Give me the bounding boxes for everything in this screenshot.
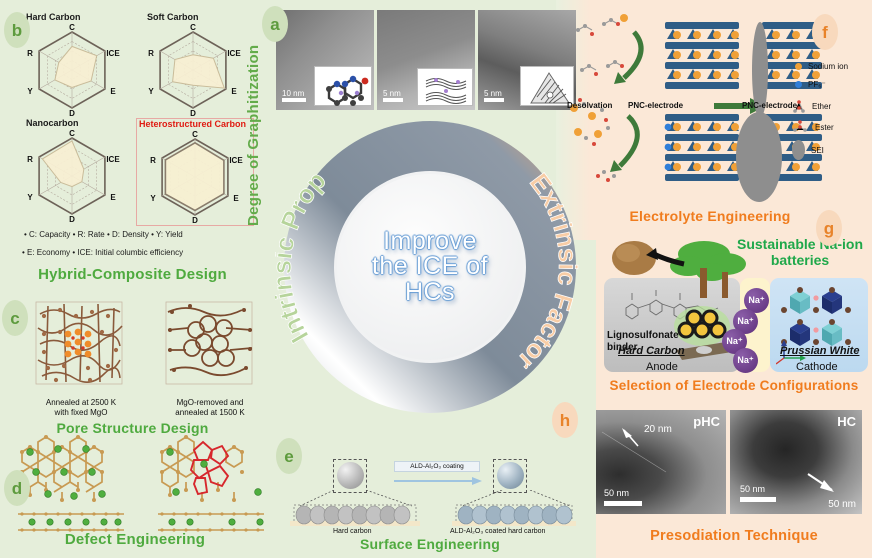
pore-model-mgo-removed xyxy=(160,294,260,394)
pore-left-caption-line2: with fixed MgO xyxy=(28,408,134,418)
caption-electrode-configurations: Selection of Electrode Configurations xyxy=(596,378,872,393)
svg-text:R: R xyxy=(150,156,156,165)
svg-text:D: D xyxy=(190,109,196,118)
label-degree-of-graphitization: Degree of Graphitization xyxy=(245,14,262,226)
svg-text:E: E xyxy=(231,87,237,96)
panel-badge-b: b xyxy=(4,12,30,48)
panel-badge-f-letter: f xyxy=(822,24,828,41)
svg-text:C: C xyxy=(190,23,196,32)
svg-text:R: R xyxy=(27,49,33,58)
electrolyte-legend-label-pf6: PF₆⁻ xyxy=(808,80,826,89)
caption-hybrid-composite-design: Hybrid-Composite Design xyxy=(0,266,265,283)
tem-phc-scale-label: 50 nm xyxy=(604,488,629,498)
surface-particle-coated xyxy=(497,462,524,489)
pnc-electrode-left xyxy=(663,14,745,186)
defect-lattice-defective xyxy=(148,432,268,542)
svg-text:ICE: ICE xyxy=(229,156,243,165)
radar-title-hard-carbon: Hard Carbon xyxy=(26,12,132,22)
radar-hard-carbon: Hard Carbon C ICE E D xyxy=(12,12,132,120)
cathode-material-label: Prussian White xyxy=(780,345,859,357)
hrtem-tile-2-scalebar xyxy=(383,98,403,102)
panel-badge-h-letter: h xyxy=(560,412,570,429)
electrolyte-legend-pf6: PF₆⁻ xyxy=(795,80,826,89)
electrolyte-legend-ester: Ester xyxy=(793,120,834,134)
pore-right-caption-line1: MgO-removed and xyxy=(155,398,265,408)
hrtem-tile-1-inset xyxy=(314,66,372,106)
pore-right-caption-line2: annealed at 1500 K xyxy=(155,408,265,418)
caption-pore-structure-design: Pore Structure Design xyxy=(0,420,265,436)
electrolyte-legend-label-sodium-ion: Sodium ion xyxy=(808,62,848,71)
center-title-line-3: HCs xyxy=(405,280,455,306)
panel-badge-h: h xyxy=(552,402,578,438)
svg-text:Y: Y xyxy=(27,193,33,202)
central-ring-diagram: Intrinsic Property Extrinsic Factor Impr… xyxy=(275,112,585,422)
hrtem-tile-3: 5 nm xyxy=(478,10,576,110)
svg-text:E: E xyxy=(233,194,239,203)
radar-svg-nanocarbon: C ICE E D Y R xyxy=(12,128,132,224)
hrtem-tile-2-inset xyxy=(417,68,473,106)
na-ion-2-label: Na⁺ xyxy=(737,316,753,327)
svg-text:D: D xyxy=(192,216,198,225)
electrolyte-legend-label-ether: Ether xyxy=(812,102,831,111)
hrtem-tile-3-scale-label: 5 nm xyxy=(484,89,502,98)
caption-surface-engineering: Surface Engineering xyxy=(300,536,560,552)
radar-nanocarbon: Nanocarbon C ICE E D xyxy=(12,118,132,226)
pore-transform-arrow-icon xyxy=(133,298,153,316)
surface-process-arrow-icon xyxy=(394,476,482,486)
tem-hc-scale-label: 50 nm xyxy=(740,484,765,494)
pf6-anion-icon xyxy=(795,81,802,88)
tem-phc: pHC 20 nm 50 nm xyxy=(596,410,726,514)
svg-text:Y: Y xyxy=(148,87,154,96)
svg-text:Y: Y xyxy=(150,194,156,203)
radar-title-nanocarbon: Nanocarbon xyxy=(26,118,132,128)
radar-svg-soft-carbon: C ICE E D Y R xyxy=(133,22,253,118)
ester-molecule-icon xyxy=(793,120,809,134)
svg-text:D: D xyxy=(69,109,75,118)
electrolyte-legend-sei: SEI xyxy=(792,140,824,160)
svg-text:R: R xyxy=(148,49,154,58)
hrtem-tile-3-scalebar xyxy=(484,98,504,102)
electrolyte-label-pnc-electrode-left: PNC-electrode xyxy=(628,101,683,110)
caption-defect-engineering: Defect Engineering xyxy=(0,531,270,548)
svg-text:E: E xyxy=(110,193,116,202)
pore-left-caption-line1: Annealed at 2500 K xyxy=(28,398,134,408)
svg-text:ICE: ICE xyxy=(106,49,120,58)
pore-right-caption: MgO-removed and annealed at 1500 K xyxy=(155,398,265,418)
svg-text:R: R xyxy=(27,155,33,164)
radar-heterostructured-carbon: Heterostructured Carbon C ICE xyxy=(135,119,255,227)
svg-text:ICE: ICE xyxy=(106,155,120,164)
electrolyte-legend-label-sei: SEI xyxy=(811,146,824,155)
electrolyte-legend-ether: Ether xyxy=(793,99,831,114)
na-ion-4-label: Na⁺ xyxy=(737,355,753,366)
panel-badge-b-letter: b xyxy=(12,22,22,39)
radar-svg-heterostructured-carbon: C ICE E D Y R xyxy=(135,129,255,225)
svg-text:ICE: ICE xyxy=(227,49,241,58)
electrolyte-label-desolvation: Desolvation xyxy=(567,101,612,110)
anode-role-label: Anode xyxy=(646,361,678,373)
sei-layer-bottom xyxy=(736,112,782,202)
panel-badge-d-letter: d xyxy=(12,480,22,497)
tem-phc-scalebar xyxy=(604,501,642,506)
ring-center-title: Improve the ICE of HCs xyxy=(337,174,523,360)
na-ion-4: Na⁺ xyxy=(733,348,758,373)
tem-phc-annotation-label: 20 nm xyxy=(644,424,672,435)
electrolyte-legend-sodium-ion: Sodium ion xyxy=(795,62,848,71)
pore-left-caption: Annealed at 2500 K with fixed MgO xyxy=(28,398,134,418)
radar-title-heterostructured-carbon: Heterostructured Carbon xyxy=(139,119,255,129)
na-ion-3-label: Na⁺ xyxy=(726,336,742,347)
surface-bulk-uncoated xyxy=(290,490,420,532)
sei-film-icon xyxy=(792,140,805,160)
svg-text:C: C xyxy=(69,129,75,138)
radar-legend-row-2: • E: Economy • ICE: Initial columbic eff… xyxy=(22,248,183,257)
panel-badge-g: g xyxy=(816,210,842,246)
caption-electrolyte-engineering: Electrolyte Engineering xyxy=(600,208,820,224)
caption-presodiation-technique: Presodiation Technique xyxy=(596,528,872,544)
pore-model-with-mgo xyxy=(30,294,130,394)
hrtem-tile-1-scale-label: 10 nm xyxy=(282,89,304,98)
svg-text:D: D xyxy=(69,215,75,224)
hrtem-tile-2: 5 nm xyxy=(377,10,475,110)
surface-label-coated-hard-carbon: ALD-Al₂O₃ coated hard carbon xyxy=(450,528,545,535)
cathode-role-label: Cathode xyxy=(796,361,838,373)
tem-hc-scalebar xyxy=(740,497,776,502)
center-title-line-1: Improve xyxy=(383,229,477,255)
panel-badge-c: c xyxy=(2,300,28,336)
panel-badge-e: e xyxy=(276,438,302,474)
panel-badge-a: a xyxy=(262,6,288,42)
panel-badge-e-letter: e xyxy=(284,448,293,465)
svg-text:E: E xyxy=(110,87,116,96)
electrolyte-legend-label-ester: Ester xyxy=(815,123,834,132)
svg-text:C: C xyxy=(69,23,75,32)
surface-ald-arrow-label: ALD-Al₂O₃ coating xyxy=(394,461,480,472)
hrtem-tile-1: 10 nm xyxy=(276,10,374,110)
hrtem-tile-2-scale-label: 5 nm xyxy=(383,89,401,98)
sodium-ion-icon xyxy=(795,63,802,70)
tem-hc: HC 50 nm 50 nm xyxy=(730,410,862,514)
hrtem-tile-1-scalebar xyxy=(282,98,306,102)
biomass-source-illustration xyxy=(608,238,758,300)
surface-bulk-coated xyxy=(446,490,576,532)
panel-badge-f: f xyxy=(812,14,838,50)
binder-label-line1: Lignosulfonate xyxy=(607,330,679,342)
svg-text:Y: Y xyxy=(27,87,33,96)
surface-label-hard-carbon: Hard carbon xyxy=(333,528,372,535)
center-title-line-2: the ICE of xyxy=(372,254,488,280)
svg-text:C: C xyxy=(192,130,198,139)
surface-particle-uncoated xyxy=(337,462,364,489)
panel-badge-a-letter: a xyxy=(270,16,279,33)
figure-canvas: b Hard Carbon C xyxy=(0,0,872,558)
panel-badge-c-letter: c xyxy=(10,310,19,327)
radar-svg-hard-carbon: C ICE E D Y R xyxy=(12,22,132,118)
radar-soft-carbon: Soft Carbon C ICE E D xyxy=(133,12,253,120)
panel-badge-d: d xyxy=(4,470,30,506)
radar-legend-row-1: • C: Capacity • R: Rate • D: Density • Y… xyxy=(24,230,183,239)
tem-hc-annotation-label: 50 nm xyxy=(828,499,856,510)
electrolyte-label-pnc-electrode-right: PNC-electrode xyxy=(742,101,797,110)
panel-badge-g-letter: g xyxy=(824,220,834,237)
anode-material-label: Hard Carbon xyxy=(618,345,685,357)
radar-title-soft-carbon: Soft Carbon xyxy=(147,12,253,22)
